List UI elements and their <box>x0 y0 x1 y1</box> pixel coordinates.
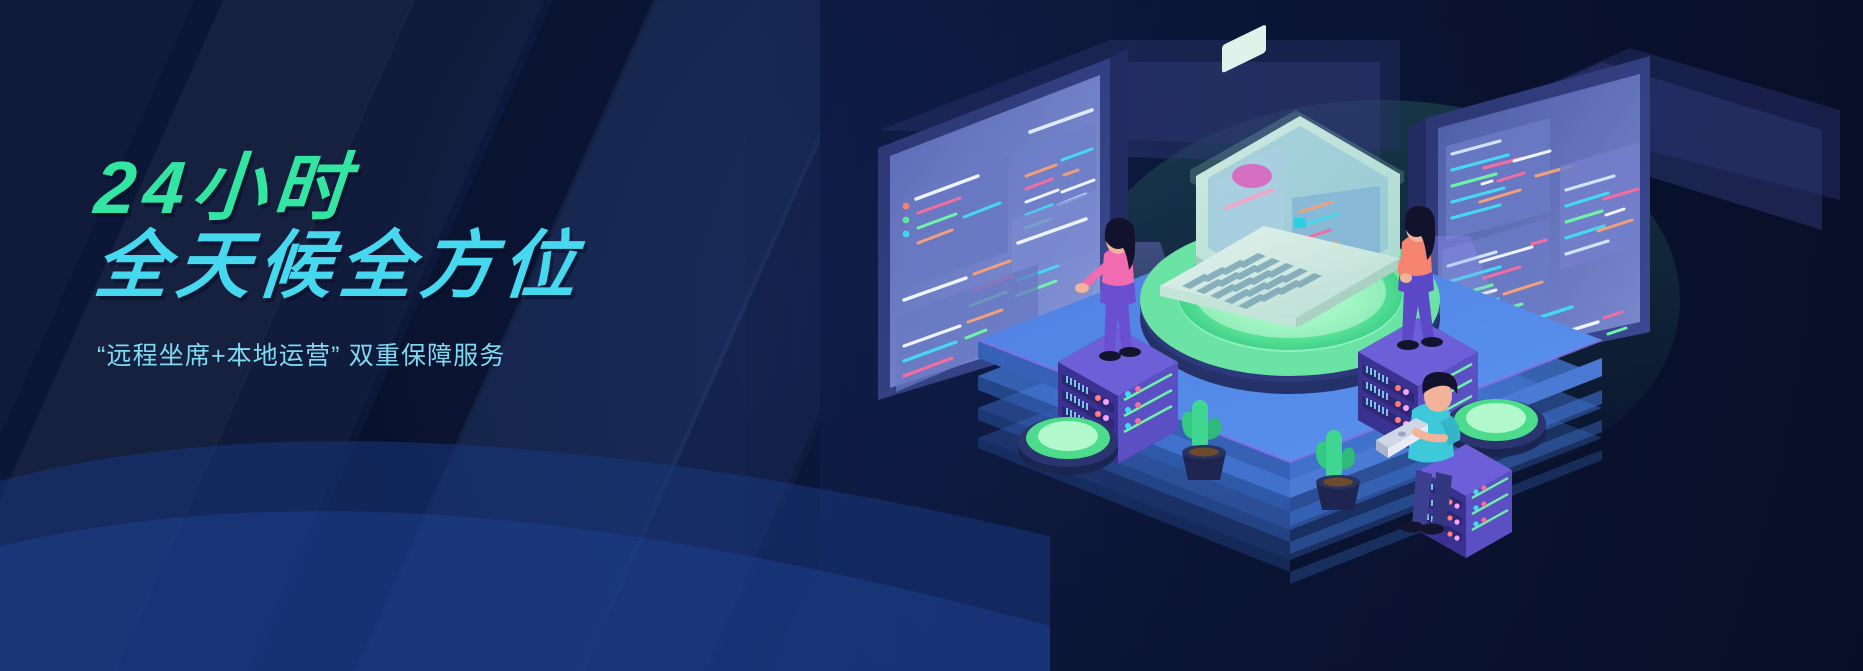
headline-line-2: 全天候全方位 <box>92 230 738 302</box>
glow-pad-left <box>1018 417 1118 475</box>
hero-banner: 24小时 全天候全方位 “远程坐席+本地运营” 双重保障服务 <box>0 0 1863 671</box>
subtitle: “远程坐席+本地运营” 双重保障服务 <box>97 336 737 372</box>
illustration-isometric-data-center <box>860 0 1863 671</box>
headline-line-1: 24小时 <box>92 152 738 224</box>
copy-block: 24小时 全天候全方位 “远程坐席+本地运营” 双重保障服务 <box>95 152 735 372</box>
